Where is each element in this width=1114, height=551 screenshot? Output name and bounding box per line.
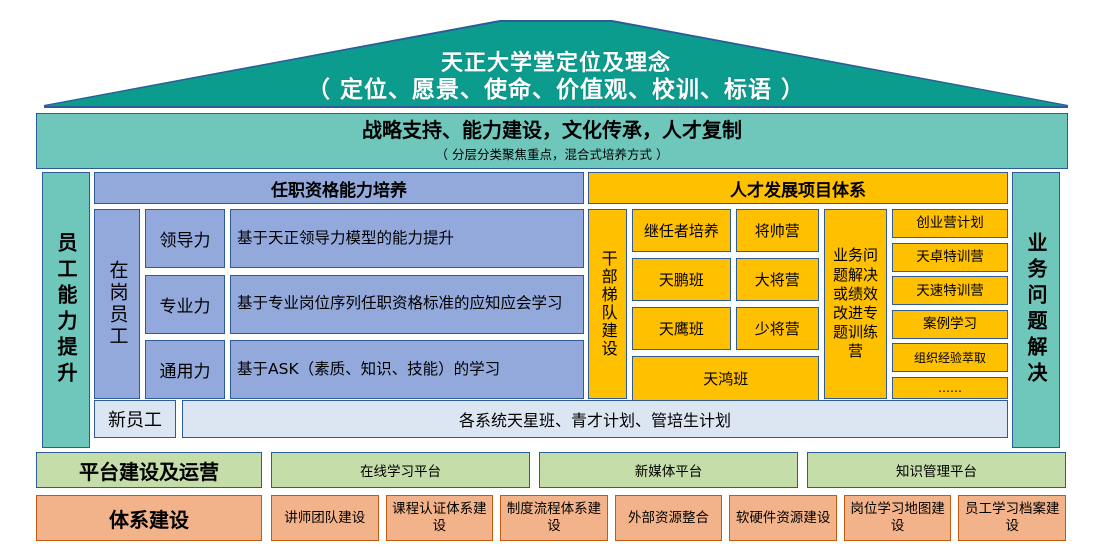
system-row: 体系建设 讲师团队建设 课程认证体系建设 制度流程体系建设 外部资源整合 软硬件… — [36, 495, 1066, 541]
talent-item-more: …… — [892, 377, 1008, 399]
talent-item: 大将营 — [736, 258, 820, 301]
qualification-key: 领导力 — [145, 209, 225, 268]
qualification-value: 基于专业岗位序列任职资格标准的应知应会学习 — [230, 275, 584, 334]
talent-mid-column: 继任者培养 将帅营 天鹏班 大将营 天鹰班 少将营 天鸿班 — [632, 209, 819, 399]
system-item: 员工学习档案建设 — [958, 495, 1066, 541]
talent-item: 天鹏班 — [632, 258, 730, 301]
strategy-band: 战略支持、能力建设，文化传承，人才复制 （ 分层分类聚焦重点，混合式培养方式 ） — [36, 113, 1068, 169]
talent-item: 天鹰班 — [632, 307, 730, 350]
platform-item: 知识管理平台 — [807, 452, 1066, 488]
talent-item: 天卓特训营 — [892, 243, 1008, 272]
roof-title-line1: 天正大学堂定位及理念 — [44, 51, 1068, 77]
talent-cadre-tag: 干部梯队建设 — [588, 209, 627, 399]
talent-title: 人才发展项目体系 — [588, 172, 1008, 204]
system-item: 制度流程体系建设 — [500, 495, 608, 541]
sidebar-left-label: 员工能力提升 — [56, 232, 76, 388]
qualification-group-tag-label: 在岗员工 — [108, 260, 127, 348]
main-body: 员工能力提升 业务问题解决 任职资格能力培养 在岗员工 领导力 基于天正领导力模… — [36, 172, 1066, 446]
talent-item: 少将营 — [736, 307, 820, 350]
qualification-grid: 在岗员工 领导力 基于天正领导力模型的能力提升 专业力 基于专业岗位序列任职资格… — [94, 209, 584, 399]
talent-cadre-tag-label: 干部梯队建设 — [600, 250, 616, 358]
talent-item: 天速特训营 — [892, 276, 1008, 305]
new-employee-row: 新员工 各系统天星班、青才计划、管培生计划 — [94, 400, 1008, 438]
qualification-rows: 领导力 基于天正领导力模型的能力提升 专业力 基于专业岗位序列任职资格标准的应知… — [145, 209, 584, 399]
talent-right-column: 创业营计划 天卓特训营 天速特训营 案例学习 组织经验萃取 …… — [892, 209, 1008, 399]
qualification-group-tag: 在岗员工 — [94, 209, 140, 399]
platform-item: 新媒体平台 — [539, 452, 798, 488]
sidebar-right-label: 业务问题解决 — [1026, 232, 1046, 388]
table-row: 领导力 基于天正领导力模型的能力提升 — [145, 209, 584, 268]
qualification-value: 基于天正领导力模型的能力提升 — [230, 209, 584, 268]
sidebar-left-employee-capability: 员工能力提升 — [42, 172, 90, 448]
new-employee-value: 各系统天星班、青才计划、管培生计划 — [182, 400, 1008, 438]
table-row: 天鸿班 — [632, 356, 819, 399]
system-main-label: 体系建设 — [36, 495, 262, 541]
platform-main-label: 平台建设及运营 — [36, 452, 262, 488]
pyramid-framework-diagram: 天正大学堂定位及理念 （ 定位、愿景、使命、价值观、校训、标语 ） 战略支持、能… — [0, 0, 1114, 551]
system-item: 讲师团队建设 — [271, 495, 379, 541]
roof-title-block: 天正大学堂定位及理念 （ 定位、愿景、使命、价值观、校训、标语 ） — [44, 51, 1068, 108]
roof-title-line2: （ 定位、愿景、使命、价值观、校训、标语 ） — [44, 77, 1068, 104]
sidebar-right-business-problem: 业务问题解决 — [1012, 172, 1060, 448]
table-row: 专业力 基于专业岗位序列任职资格标准的应知应会学习 — [145, 275, 584, 334]
platform-item: 在线学习平台 — [271, 452, 530, 488]
system-item: 外部资源整合 — [615, 495, 723, 541]
table-row: 通用力 基于ASK（素质、知识、技能）的学习 — [145, 340, 584, 399]
table-row: 天鹰班 少将营 — [632, 307, 819, 350]
talent-business-training-tag: 业务问题解决或绩效改进专题训练营 — [824, 209, 887, 399]
system-item: 课程认证体系建设 — [386, 495, 494, 541]
roof-banner: 天正大学堂定位及理念 （ 定位、愿景、使命、价值观、校训、标语 ） — [44, 20, 1068, 108]
talent-section: 人才发展项目体系 干部梯队建设 继任者培养 将帅营 天鹏班 大将营 天鹰班 — [588, 172, 1008, 399]
talent-item: 天鸿班 — [632, 356, 819, 401]
strategy-band-subtitle: （ 分层分类聚焦重点，混合式培养方式 ） — [436, 144, 669, 163]
talent-item: 继任者培养 — [632, 209, 730, 252]
talent-item: 创业营计划 — [892, 209, 1008, 238]
qualification-key: 专业力 — [145, 275, 225, 334]
system-item: 岗位学习地图建设 — [844, 495, 952, 541]
strategy-band-title: 战略支持、能力建设，文化传承，人才复制 — [362, 119, 742, 141]
talent-grid: 干部梯队建设 继任者培养 将帅营 天鹏班 大将营 天鹰班 少将营 — [588, 209, 1008, 399]
table-row: 天鹏班 大将营 — [632, 258, 819, 301]
qualification-value: 基于ASK（素质、知识、技能）的学习 — [230, 340, 584, 399]
qualification-section: 任职资格能力培养 在岗员工 领导力 基于天正领导力模型的能力提升 专业力 基于专… — [94, 172, 584, 399]
system-item: 软硬件资源建设 — [729, 495, 837, 541]
talent-item: 案例学习 — [892, 310, 1008, 339]
qualification-key: 通用力 — [145, 340, 225, 399]
platform-row: 平台建设及运营 在线学习平台 新媒体平台 知识管理平台 — [36, 452, 1066, 488]
table-row: 继任者培养 将帅营 — [632, 209, 819, 252]
talent-item: 将帅营 — [736, 209, 820, 252]
qualification-title: 任职资格能力培养 — [94, 172, 584, 204]
new-employee-tag: 新员工 — [94, 400, 176, 438]
talent-item: 组织经验萃取 — [892, 343, 1008, 372]
